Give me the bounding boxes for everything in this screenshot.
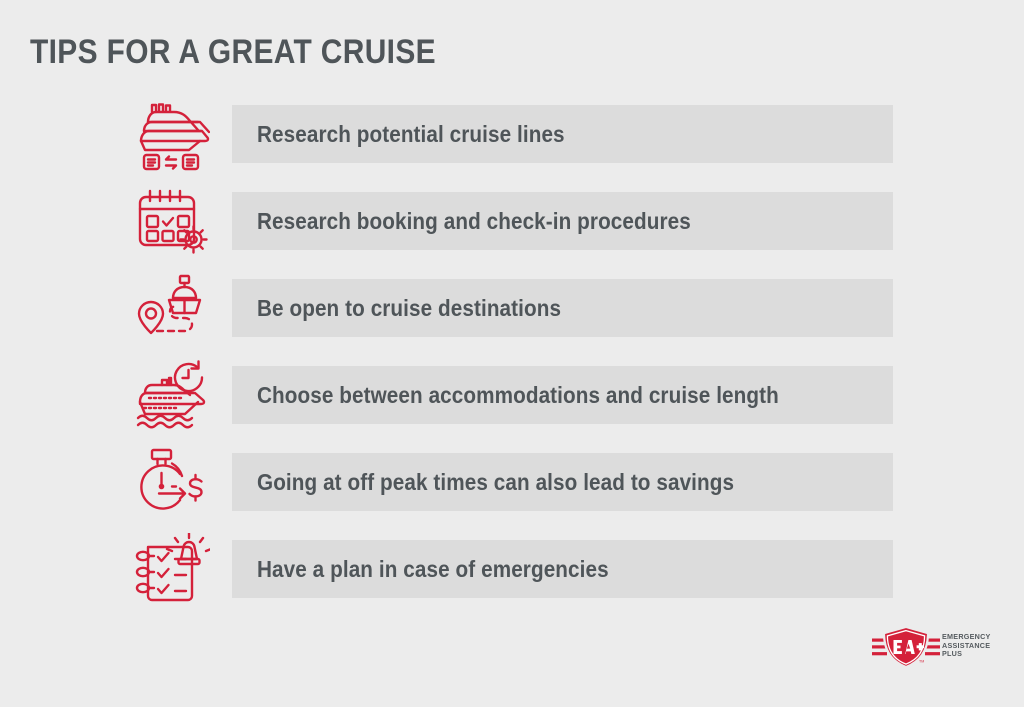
page-title: TIPS FOR A GREAT CRUISE bbox=[30, 34, 436, 71]
tip-bar: Going at off peak times can also lead to… bbox=[232, 453, 893, 511]
tip-row: Research potential cruise lines bbox=[0, 95, 1024, 182]
tip-row: Be open to cruise destinations bbox=[0, 269, 1024, 356]
map-pin-route-ship-icon bbox=[128, 269, 214, 349]
trademark-mark: TM bbox=[919, 660, 924, 664]
tips-list: Research potential cruise lines bbox=[0, 95, 1024, 617]
tip-label: Choose between accommodations and cruise… bbox=[257, 382, 779, 409]
tip-row: Research booking and check-in procedures bbox=[0, 182, 1024, 269]
tip-bar: Research potential cruise lines bbox=[232, 105, 893, 163]
tip-bar: Be open to cruise destinations bbox=[232, 279, 893, 337]
cruise-ship-clock-icon bbox=[128, 356, 214, 436]
tip-bar: Have a plan in case of emergencies bbox=[232, 540, 893, 598]
tip-label: Be open to cruise destinations bbox=[257, 295, 561, 322]
tip-row: Have a plan in case of emergencies bbox=[0, 530, 1024, 617]
brand-logo: TM EMERGENCY ASSISTANCE PLUS bbox=[872, 624, 994, 672]
tip-label: Research booking and check-in procedures bbox=[257, 208, 691, 235]
cruise-ship-compare-icon bbox=[128, 95, 214, 175]
tip-label: Have a plan in case of emergencies bbox=[257, 556, 609, 583]
tip-bar: Choose between accommodations and cruise… bbox=[232, 366, 893, 424]
shield-logo-icon: TM bbox=[872, 626, 940, 668]
checklist-alarm-icon bbox=[128, 530, 214, 610]
tip-label: Research potential cruise lines bbox=[257, 121, 565, 148]
tip-row: Choose between accommodations and cruise… bbox=[0, 356, 1024, 443]
brand-line-3: PLUS bbox=[942, 650, 991, 659]
tip-bar: Research booking and check-in procedures bbox=[232, 192, 893, 250]
tip-row: Going at off peak times can also lead to… bbox=[0, 443, 1024, 530]
brand-logo-text: EMERGENCY ASSISTANCE PLUS bbox=[942, 633, 991, 659]
infographic-page: TIPS FOR A GREAT CRUISE bbox=[0, 0, 1024, 707]
calendar-gear-icon bbox=[128, 182, 214, 262]
tip-label: Going at off peak times can also lead to… bbox=[257, 469, 734, 496]
stopwatch-dollar-icon bbox=[128, 443, 214, 523]
